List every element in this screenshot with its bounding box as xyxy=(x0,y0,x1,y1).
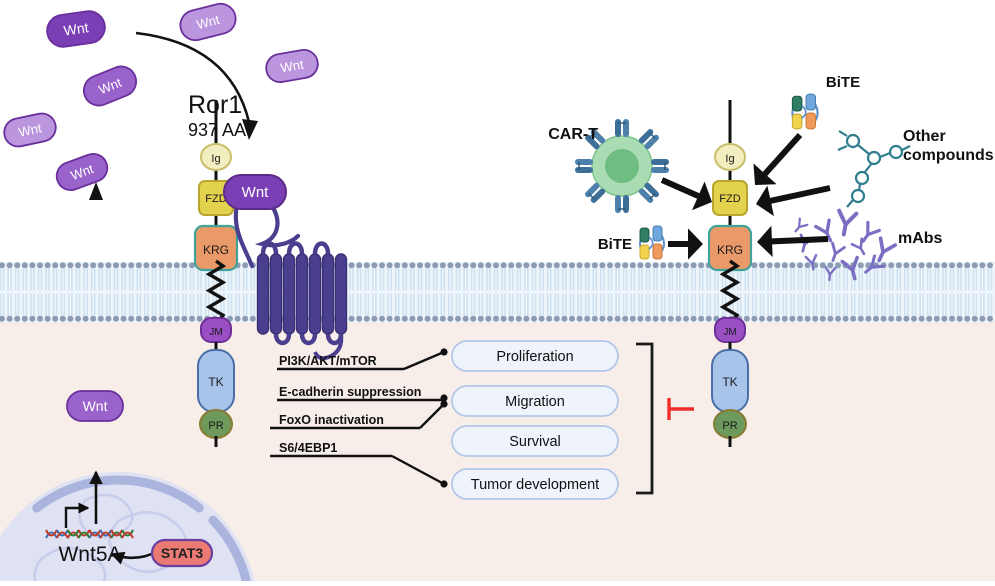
bite-label-lower: BiTE xyxy=(598,236,632,253)
svg-text:Wnt: Wnt xyxy=(83,398,108,414)
outcome-box[interactable]: Migration xyxy=(452,386,618,416)
outcome-box[interactable]: Tumor development xyxy=(452,469,618,499)
pathway-label: S6/4EBP1 xyxy=(279,441,337,455)
outcome-label: Migration xyxy=(505,394,565,410)
domain-label: Ig xyxy=(725,153,734,165)
wnt5a-gene-label: Wnt5A xyxy=(58,543,121,566)
figure-canvas: STAT3Wnt5AWntWntWntWntWntWntWntRor1937 A… xyxy=(0,0,995,581)
plasma-membrane xyxy=(0,262,995,322)
domain-label: PR xyxy=(208,420,223,432)
stat3-node: STAT3 xyxy=(152,540,212,566)
domain-label: Ig xyxy=(211,153,220,165)
wnt-cytoplasmic: Wnt xyxy=(67,391,123,421)
car-t-label: CAR-T xyxy=(548,126,598,143)
pathway-label: FoxO inactivation xyxy=(279,413,384,427)
mabs-label: mAbs xyxy=(898,230,943,247)
bite-label-upper: BiTE xyxy=(826,74,860,91)
outcome-box[interactable]: Survival xyxy=(452,426,618,456)
outcome-label: Survival xyxy=(509,434,561,450)
stat3-label: STAT3 xyxy=(161,545,203,561)
pathway-diagram: STAT3Wnt5AWntWntWntWntWntWntWntRor1937 A… xyxy=(0,0,995,581)
domain-label: FZD xyxy=(719,193,740,205)
domain-label: JM xyxy=(209,327,222,338)
outcome-label: Tumor development xyxy=(471,477,599,493)
pathway-label: E-cadherin suppression xyxy=(279,385,421,399)
domain-label: KRG xyxy=(717,243,743,257)
outcome-label: Proliferation xyxy=(496,349,573,365)
domain-label: KRG xyxy=(203,243,229,257)
domain-label: TK xyxy=(722,375,737,389)
domain-label: TK xyxy=(208,375,223,389)
domain-label: PR xyxy=(722,420,737,432)
other-compounds-label-line1: Other xyxy=(903,128,946,145)
pathway-label: PI3K/AKT/mTOR xyxy=(279,354,377,368)
bound-wnt-label: Wnt xyxy=(242,184,270,201)
outcome-box[interactable]: Proliferation xyxy=(452,341,618,371)
other-compounds-label-line2: compounds xyxy=(903,147,994,164)
domain-label: JM xyxy=(723,327,736,338)
